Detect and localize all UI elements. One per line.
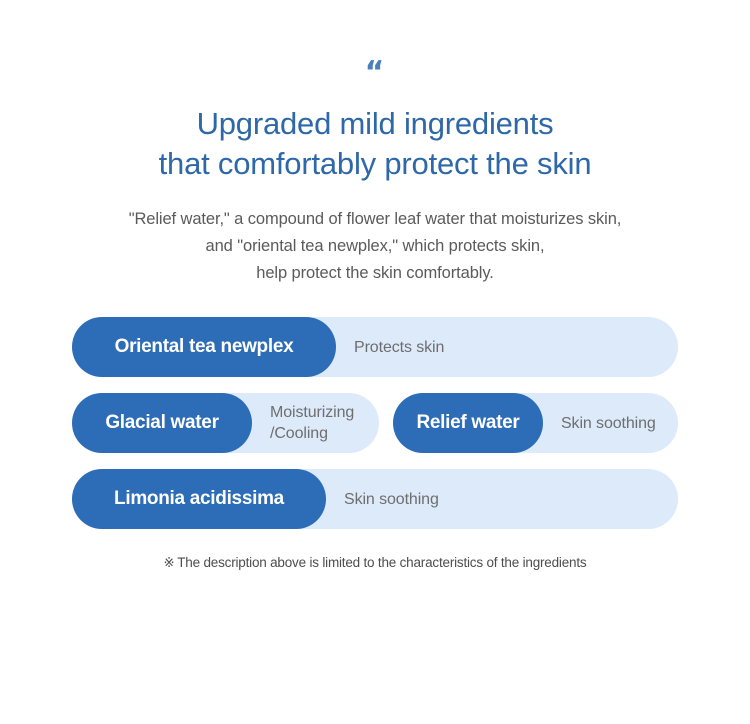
ingredient-item-limonia-acidissima: Limonia acidissima Skin soothing [72, 469, 678, 529]
ingredient-name-badge: Relief water [393, 393, 543, 453]
ingredient-effect-line-2: /Cooling [270, 423, 354, 444]
ingredient-effect-line-1: Skin soothing [561, 413, 656, 434]
ingredient-name-badge: Oriental tea newplex [72, 317, 336, 377]
ingredient-effect: Skin soothing [326, 489, 451, 510]
ingredient-item-glacial-water: Glacial water Moisturizing /Cooling [72, 393, 379, 453]
ingredient-row: Oriental tea newplex Protects skin [72, 317, 678, 377]
ingredient-item-oriental-tea-newplex: Oriental tea newplex Protects skin [72, 317, 678, 377]
ingredient-effect-line-1: Protects skin [354, 337, 444, 358]
ingredient-infographic: “ Upgraded mild ingredients that comfort… [0, 0, 750, 724]
page-description-line-2: and "oriental tea newplex," which protec… [0, 233, 750, 260]
ingredient-item-relief-water: Relief water Skin soothing [393, 393, 678, 453]
quote-mark-icon: “ [0, 0, 750, 88]
ingredient-effect: Moisturizing /Cooling [252, 402, 366, 444]
reference-mark-icon: ※ [164, 556, 178, 571]
ingredient-effect: Skin soothing [543, 413, 668, 434]
ingredient-row: Limonia acidissima Skin soothing [72, 469, 678, 529]
ingredient-effect-line-1: Moisturizing [270, 402, 354, 423]
ingredient-list: Oriental tea newplex Protects skin Glaci… [0, 317, 750, 529]
page-title-line-2: that comfortably protect the skin [0, 144, 750, 184]
footnote-text: The description above is limited to the … [177, 555, 586, 570]
footnote: ※The description above is limited to the… [0, 555, 750, 571]
page-title: Upgraded mild ingredients that comfortab… [0, 104, 750, 184]
page-description: "Relief water," a compound of flower lea… [0, 206, 750, 287]
page-title-line-1: Upgraded mild ingredients [0, 104, 750, 144]
ingredient-name-badge: Glacial water [72, 393, 252, 453]
ingredient-effect: Protects skin [336, 337, 456, 358]
page-description-line-1: "Relief water," a compound of flower lea… [0, 206, 750, 233]
page-description-line-3: help protect the skin comfortably. [0, 260, 750, 287]
ingredient-name-badge: Limonia acidissima [72, 469, 326, 529]
ingredient-row: Glacial water Moisturizing /Cooling Reli… [72, 393, 678, 453]
ingredient-effect-line-1: Skin soothing [344, 489, 439, 510]
